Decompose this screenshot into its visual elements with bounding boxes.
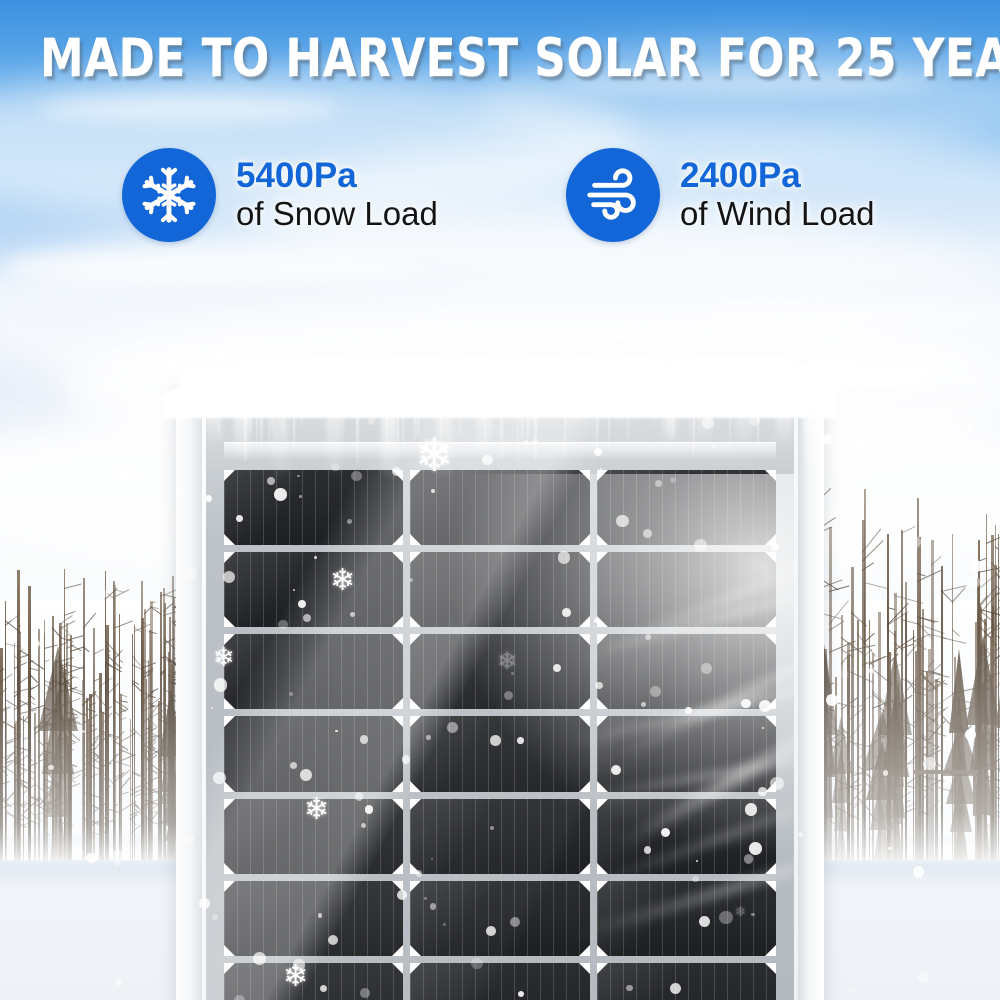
- icicle-thread: [692, 396, 695, 457]
- badge-snow-text: 5400Pa of Snow Load: [236, 156, 438, 234]
- snow-speck: [351, 471, 362, 482]
- frame-left-rail: [176, 410, 202, 1000]
- cell-chamfer: [224, 799, 235, 810]
- icicle-thread: [598, 394, 599, 446]
- snow-speck: [644, 846, 652, 854]
- icicle-thread: [208, 400, 209, 422]
- snow-particle: [267, 477, 275, 485]
- icicle-thread: [268, 396, 270, 448]
- cell-chamfer: [410, 881, 421, 892]
- snow-speck: [360, 988, 370, 998]
- solar-cell: [410, 716, 590, 791]
- snow-particle: [293, 589, 295, 591]
- snow-particle: [826, 694, 838, 706]
- snow-particle: [297, 475, 299, 477]
- cell-chamfer: [597, 716, 608, 727]
- icicle-thread: [256, 396, 257, 447]
- cell-chamfer: [410, 781, 421, 792]
- snow-speck: [518, 991, 524, 997]
- icicle: [326, 396, 342, 475]
- cell-chamfer: [597, 698, 608, 709]
- snow-speck: [360, 735, 369, 744]
- snow-particle: [966, 839, 969, 842]
- snow-speck: [626, 985, 633, 992]
- cell-chamfer: [579, 716, 590, 727]
- snow-particle: [594, 618, 599, 623]
- icicle-thread: [397, 398, 400, 459]
- icicle-thread: [301, 398, 303, 426]
- snow-particle: [968, 576, 980, 588]
- snow-particle: [617, 335, 623, 341]
- icicle-thread: [668, 397, 670, 436]
- cell-chamfer: [410, 634, 421, 645]
- snow-speck: [214, 678, 227, 691]
- cell-chamfer: [410, 799, 421, 810]
- icicle-thread: [627, 397, 630, 446]
- solar-cell: [597, 881, 777, 956]
- snow-speck: [770, 777, 783, 790]
- cell-chamfer: [392, 963, 403, 974]
- icicle-thread: [271, 396, 274, 430]
- snow-particle: [86, 853, 96, 863]
- cell-chamfer: [765, 470, 776, 481]
- icicle: [568, 396, 584, 427]
- cell-chamfer: [765, 863, 776, 874]
- solar-cell-grid: [224, 470, 777, 1000]
- cell-chamfer: [392, 799, 403, 810]
- cell-chamfer: [765, 963, 776, 974]
- cell-chamfer: [579, 781, 590, 792]
- cell-chamfer: [765, 634, 776, 645]
- cell-chamfer: [765, 616, 776, 627]
- decorative-snowflake-icon: ❄: [415, 432, 454, 478]
- page-title: MADE TO HARVEST SOLAR FOR 25 YEARS: [40, 28, 960, 89]
- snow-speck: [758, 787, 767, 796]
- cell-chamfer: [392, 716, 403, 727]
- decorative-snowflake-icon: ❄: [658, 362, 676, 383]
- snow-speck: [562, 608, 571, 617]
- icicle-thread: [216, 395, 218, 418]
- snow-particle: [299, 495, 302, 498]
- snow-speck: [274, 488, 287, 501]
- cell-chamfer: [579, 698, 590, 709]
- icicle-thread: [244, 399, 245, 449]
- solar-cell: [597, 963, 777, 1000]
- icicle-thread: [248, 395, 249, 434]
- icicle-thread: [402, 397, 404, 450]
- snow-particle: [913, 866, 925, 878]
- solar-cell: [597, 634, 777, 709]
- cell-chamfer: [224, 863, 235, 874]
- cell-chamfer: [224, 698, 235, 709]
- icicle: [381, 396, 397, 480]
- cloud-wisp: [40, 96, 340, 122]
- snow-particle: [81, 730, 84, 733]
- cell-chamfer: [224, 470, 235, 481]
- solar-cell: [224, 552, 404, 627]
- snow-particle: [874, 348, 882, 356]
- badge-snow-load: 5400Pa of Snow Load: [122, 148, 438, 242]
- snow-particle: [122, 678, 125, 681]
- icicle: [616, 396, 632, 425]
- snow-lump: [818, 364, 931, 387]
- icicle-thread: [633, 396, 636, 419]
- icicle-thread: [234, 394, 236, 406]
- badge-wind-load: 2400Pa of Wind Load: [566, 148, 874, 242]
- snow-particle: [849, 989, 852, 992]
- cell-chamfer: [579, 799, 590, 810]
- snow-particle: [368, 417, 375, 424]
- icicle-thread: [354, 394, 355, 410]
- badge-wind-text: 2400Pa of Wind Load: [680, 156, 874, 234]
- icicle-thread: [608, 396, 610, 417]
- cell-chamfer: [597, 799, 608, 810]
- cell-chamfer: [224, 534, 235, 545]
- icicle-thread: [740, 400, 742, 418]
- cell-chamfer: [224, 781, 235, 792]
- snow-speck: [426, 735, 431, 740]
- frame-right-rail: [798, 410, 824, 1000]
- icicle-thread: [708, 399, 710, 424]
- snow-particle: [670, 983, 681, 994]
- solar-cell: [597, 716, 777, 791]
- badge-snow-value: 5400Pa: [236, 156, 438, 195]
- icicle-thread: [500, 398, 502, 458]
- badge-wind-value: 2400Pa: [680, 156, 874, 195]
- solar-cell: [410, 963, 590, 1000]
- snow-particle: [996, 377, 1000, 384]
- snow-particle: [107, 602, 110, 605]
- feature-badges: 5400Pa of Snow Load 2400Pa of Wind Load: [0, 148, 1000, 260]
- cell-chamfer: [392, 945, 403, 956]
- cell-chamfer: [392, 634, 403, 645]
- icicle-thread: [566, 399, 568, 429]
- snow-particle: [741, 394, 743, 396]
- decorative-snowflake-icon: ❄: [213, 644, 235, 670]
- icicle-thread: [517, 395, 518, 462]
- cell-chamfer: [224, 963, 235, 974]
- icicle-thread: [260, 397, 263, 450]
- cell-chamfer: [410, 552, 421, 563]
- snow-speck: [300, 769, 312, 781]
- snow-speck: [212, 914, 218, 920]
- icicle-thread: [790, 396, 791, 410]
- snow-speck: [397, 890, 407, 900]
- snow-speck: [719, 911, 732, 924]
- icicle-thread: [250, 399, 252, 434]
- snow-particle: [888, 847, 891, 850]
- decorative-snowflake-icon: ❄: [304, 795, 329, 825]
- icicle-thread: [368, 394, 370, 408]
- icicle-thread: [343, 399, 345, 437]
- icicle-thread: [356, 397, 359, 463]
- cell-chamfer: [224, 552, 235, 563]
- snow-speck: [643, 529, 652, 538]
- cell-chamfer: [597, 634, 608, 645]
- icicle-thread: [757, 396, 759, 446]
- snow-particle: [966, 423, 972, 429]
- snow-speck: [510, 917, 520, 927]
- wind-icon-circle: [566, 148, 660, 242]
- icicle-thread: [484, 398, 486, 464]
- snow-particle: [205, 495, 212, 502]
- cell-chamfer: [597, 863, 608, 874]
- icicle-thread: [685, 395, 688, 418]
- solar-cell: [410, 881, 590, 956]
- solar-cell: [224, 963, 404, 1000]
- cell-chamfer: [579, 470, 590, 481]
- snow-speck: [595, 682, 603, 690]
- cell-chamfer: [579, 616, 590, 627]
- icicle-thread: [474, 396, 476, 407]
- snow-particle: [425, 439, 428, 442]
- icicle-thread: [654, 399, 655, 426]
- cell-chamfer: [579, 863, 590, 874]
- cell-chamfer: [224, 616, 235, 627]
- cell-chamfer: [765, 945, 776, 956]
- snow-speck: [365, 805, 374, 814]
- decorative-snowflake-icon: ❄: [838, 667, 850, 681]
- cell-chamfer: [392, 616, 403, 627]
- snow-particle: [236, 515, 243, 522]
- cell-chamfer: [597, 534, 608, 545]
- snow-particle: [53, 513, 60, 520]
- snow-speck: [298, 600, 305, 607]
- cell-chamfer: [579, 881, 590, 892]
- cell-chamfer: [765, 552, 776, 563]
- cell-chamfer: [579, 963, 590, 974]
- cell-chamfer: [597, 945, 608, 956]
- snow-particle: [616, 515, 629, 528]
- cell-chamfer: [579, 534, 590, 545]
- snow-speck: [504, 691, 513, 700]
- snow-particle: [101, 590, 108, 597]
- solar-cell: [224, 716, 404, 791]
- solar-cell: [597, 470, 777, 545]
- decorative-snowflake-icon: ❄: [330, 566, 355, 596]
- cell-chamfer: [410, 698, 421, 709]
- cell-chamfer: [392, 552, 403, 563]
- cell-chamfer: [579, 634, 590, 645]
- snow-particle: [923, 757, 936, 770]
- snowflake-icon-circle: [122, 148, 216, 242]
- icicle-thread: [729, 396, 731, 449]
- solar-cell: [410, 799, 590, 874]
- solar-cell: [224, 881, 404, 956]
- snow-particle: [176, 489, 181, 494]
- snow-particle: [289, 692, 293, 696]
- snow-speck: [650, 686, 661, 697]
- cell-chamfer: [597, 881, 608, 892]
- cell-chamfer: [224, 881, 235, 892]
- cell-chamfer: [765, 716, 776, 727]
- cell-chamfer: [410, 616, 421, 627]
- snow-particle: [970, 560, 982, 572]
- icicle-thread: [414, 397, 416, 424]
- snow-speck: [517, 737, 523, 743]
- cell-chamfer: [579, 945, 590, 956]
- snow-speck: [416, 870, 422, 876]
- snow-speck: [355, 792, 363, 800]
- cell-chamfer: [765, 881, 776, 892]
- icicle-thread: [386, 397, 388, 452]
- snow-speck: [749, 842, 762, 855]
- icicle-thread: [459, 399, 461, 435]
- icicle-thread: [521, 400, 523, 441]
- snow-speck: [431, 489, 435, 493]
- icicle-thread: [586, 394, 587, 436]
- wind-icon: [582, 164, 644, 226]
- icicle: [272, 396, 288, 480]
- cell-chamfer: [597, 552, 608, 563]
- snow-particle: [447, 722, 458, 733]
- cell-chamfer: [392, 863, 403, 874]
- snow-speck: [211, 707, 213, 709]
- snow-particle: [358, 344, 364, 350]
- cell-chamfer: [410, 716, 421, 727]
- cell-chamfer: [597, 781, 608, 792]
- icicle-thread: [282, 397, 284, 438]
- cell-chamfer: [579, 552, 590, 563]
- snow-particle: [185, 835, 194, 844]
- snow-particle: [289, 401, 300, 412]
- snow-particle: [278, 620, 288, 630]
- snow-particle: [806, 670, 809, 673]
- snow-speck: [685, 707, 692, 714]
- snow-particle: [20, 586, 27, 593]
- decorative-snowflake-icon: ❄: [497, 650, 517, 674]
- cell-chamfer: [224, 945, 235, 956]
- cell-chamfer: [392, 698, 403, 709]
- snow-particle: [138, 340, 144, 346]
- icicle-thread: [702, 399, 704, 410]
- snow-particle: [917, 972, 929, 984]
- snow-particle: [873, 447, 880, 454]
- icicle: [736, 396, 752, 452]
- snow-particle: [490, 735, 500, 745]
- solar-cell: [597, 552, 777, 627]
- cell-chamfer: [410, 945, 421, 956]
- icicle-thread: [529, 396, 531, 421]
- decorative-snowflake-icon: ❄: [735, 905, 746, 918]
- snowflake-icon: [139, 165, 199, 225]
- cell-chamfer: [392, 781, 403, 792]
- snow-particle: [482, 455, 493, 466]
- snow-particle: [199, 898, 210, 909]
- cell-chamfer: [597, 963, 608, 974]
- snow-speck: [347, 519, 352, 524]
- snow-particle: [883, 770, 889, 776]
- snow-particle: [153, 394, 157, 398]
- snow-particle: [218, 376, 221, 379]
- cell-chamfer: [410, 963, 421, 974]
- snow-speck: [253, 952, 266, 965]
- snow-particle: [903, 511, 911, 519]
- snow-particle: [692, 876, 698, 882]
- icicle-thread: [463, 399, 465, 415]
- cell-chamfer: [597, 470, 608, 481]
- icicle-thread: [689, 394, 691, 443]
- badge-wind-label: of Wind Load: [680, 195, 874, 234]
- product-marketing-image: ❄❄❄❄❄❄❄❄❄❄❄ MADE TO HARVEST SOLAR FOR 25…: [0, 0, 1000, 1000]
- snow-particle: [745, 803, 758, 816]
- icicle: [804, 396, 820, 471]
- solar-cell: [224, 634, 404, 709]
- snow-particle: [412, 360, 416, 364]
- cell-chamfer: [410, 534, 421, 545]
- snow-particle: [402, 755, 410, 763]
- snow-particle: [965, 729, 976, 740]
- solar-cell: [224, 470, 404, 545]
- icicle-thread: [672, 399, 674, 438]
- cell-chamfer: [224, 716, 235, 727]
- snow-speck: [328, 935, 338, 945]
- snow-particle: [211, 350, 222, 361]
- snow-particle: [116, 978, 123, 985]
- snow-speck: [694, 539, 707, 552]
- cell-chamfer: [765, 799, 776, 810]
- decorative-snowflake-icon: ❄: [283, 962, 308, 992]
- snow-speck: [558, 551, 570, 563]
- badge-snow-label: of Snow Load: [236, 195, 438, 234]
- snow-speck: [290, 762, 297, 769]
- decorative-snowflake-icon: ❄: [226, 352, 239, 367]
- panel-laminate: [206, 414, 794, 1000]
- snow-particle: [48, 765, 54, 771]
- cell-chamfer: [392, 534, 403, 545]
- icicle-thread: [534, 398, 537, 459]
